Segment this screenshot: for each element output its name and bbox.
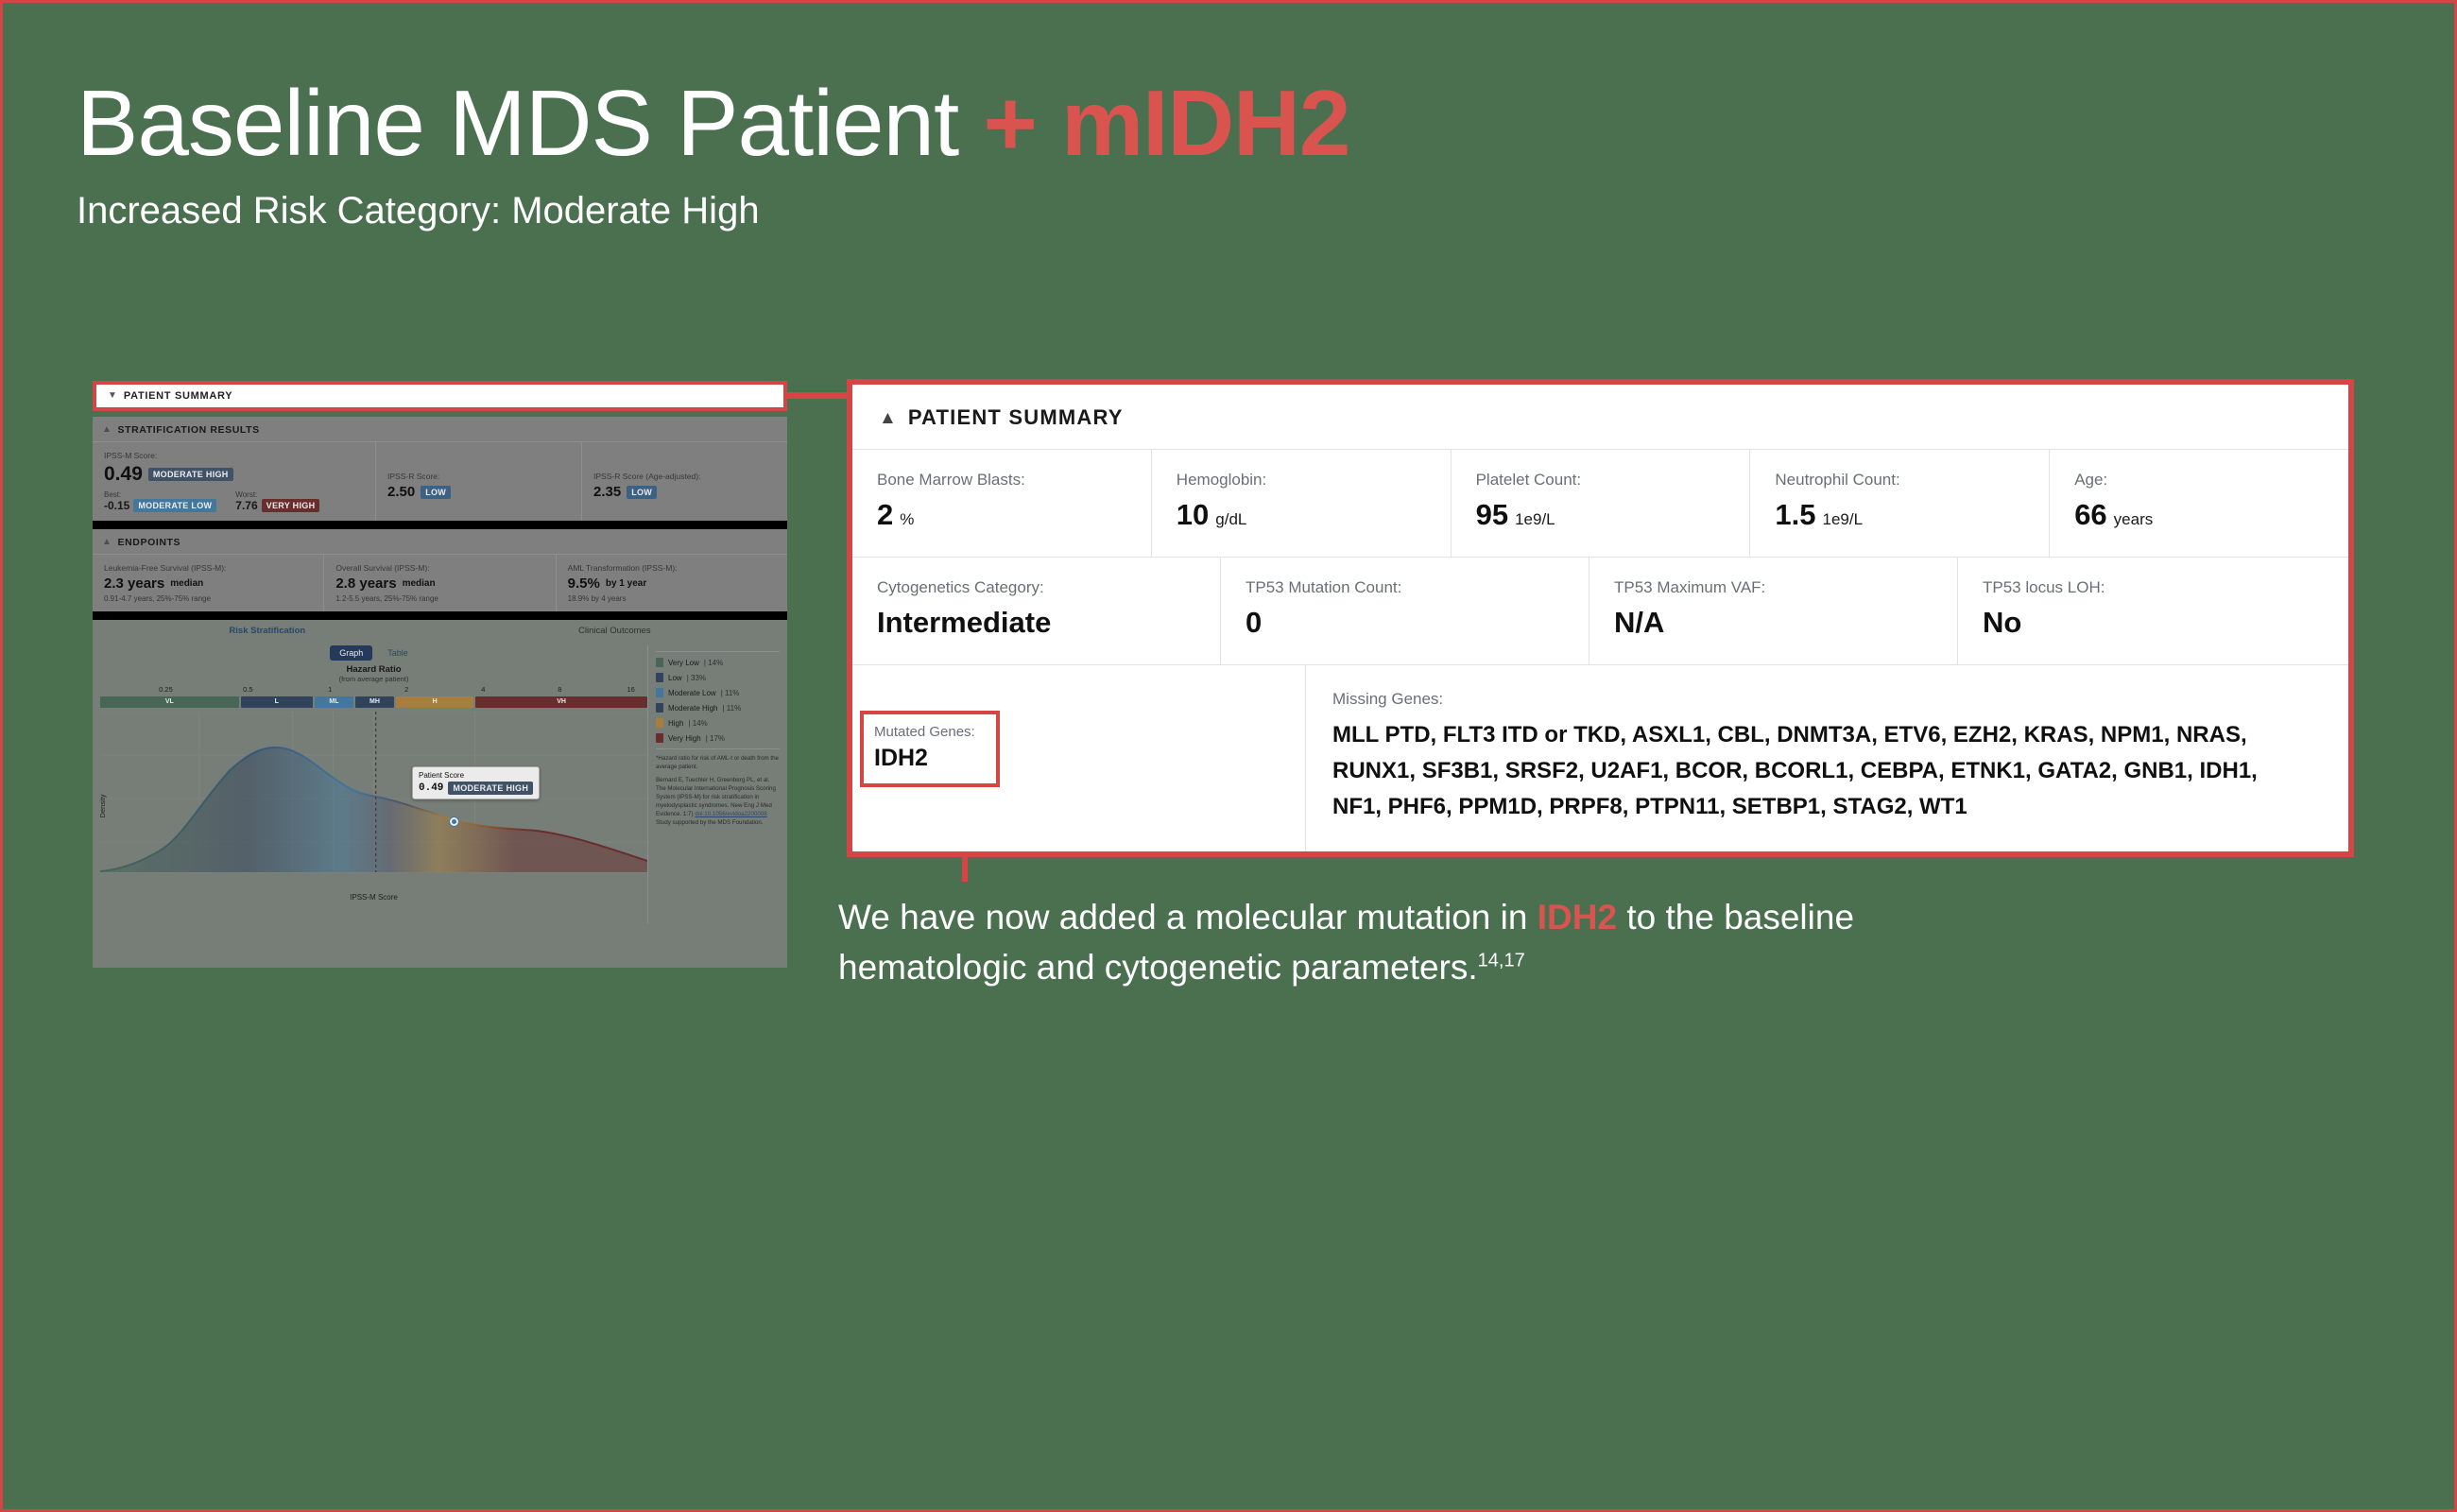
patient-summary-cell-key: TP53 Mutation Count: [1246, 578, 1564, 597]
chart-legend: Very Low| 14%Low| 33%Moderate Low| 11%Mo… [647, 645, 780, 923]
endpoints-row: Leukemia-Free Survival (IPSS-M): 2.3 yea… [93, 555, 787, 611]
patient-summary-cell: Age:66years [2050, 450, 2348, 557]
lfs-cell: Leukemia-Free Survival (IPSS-M): 2.3 yea… [93, 555, 324, 611]
patient-summary-cell-number: 66 [2074, 498, 2106, 532]
os-value: 2.8 years median [335, 576, 543, 592]
endpoints-label: ENDPOINTS [118, 537, 181, 548]
chart-top-tick: 4 [481, 685, 485, 694]
legend-percent: | 33% [687, 674, 706, 682]
risk-stratification-chart: Graph Table Hazard Ratio (from average p… [93, 640, 787, 923]
ipssr-score-cell: IPSS-R Score: 2.50 LOW [376, 442, 582, 521]
chart-top-tick: 0.5 [243, 685, 252, 694]
patient-summary-cell: Neutrophil Count:1.51e9/L [1750, 450, 2050, 557]
page-title-main: Baseline MDS Patient [77, 71, 958, 175]
patient-summary-row-3: Mutated Genes: IDH2 Missing Genes: MLL P… [852, 665, 2348, 851]
ipssm-best-badge: MODERATE LOW [133, 499, 216, 512]
ipssr-score-value: 2.50 LOW [387, 484, 570, 500]
mutated-genes-cell: Mutated Genes: IDH2 [852, 665, 1306, 851]
patient-score-tooltip-label: Patient Score [419, 771, 533, 780]
page-subtitle: Increased Risk Category: Moderate High [77, 190, 1349, 232]
aml-key: AML Transformation (IPSS-M): [568, 563, 776, 573]
legend-item: Moderate High| 11% [656, 703, 780, 713]
patient-summary-cell-unit: g/dL [1215, 510, 1246, 529]
patient-score-tooltip-row: 0.49 MODERATE HIGH [419, 782, 533, 795]
aml-range: 18.9% by 4 years [568, 594, 776, 603]
patient-summary-row-1: Bone Marrow Blasts:2%Hemoglobin:10g/dLPl… [852, 450, 2348, 558]
tab-risk-stratification[interactable]: Risk Stratification [229, 626, 305, 636]
patient-summary-cell-number: 2 [877, 498, 893, 532]
patient-summary-cell-key: Cytogenetics Category: [877, 578, 1195, 597]
legend-percent: | 17% [706, 734, 725, 743]
legend-label: Moderate High [668, 704, 717, 713]
lfs-number: 2.3 years [104, 576, 164, 592]
chart-top-axis-ticks: 0.250.5124816 [100, 685, 647, 696]
chart-top-axis-title: Hazard Ratio [100, 664, 647, 675]
chart-xlabel: IPSS-M Score [100, 893, 647, 902]
page-title-accent: + mIDH2 [984, 71, 1350, 175]
legend-label: Very Low [668, 659, 699, 667]
ipssm-worst: Worst: 7.76 VERY HIGH [235, 490, 319, 512]
ipssm-worst-value: 7.76 VERY HIGH [235, 499, 319, 512]
risk-band-vh: VH [475, 696, 647, 708]
legend-label: Low [668, 674, 682, 682]
chart-footnote: *Hazard ratio for risk of AML-t or death… [656, 755, 780, 772]
patient-summary-cell-value: 951e9/L [1476, 498, 1726, 532]
ipssr-age-adjusted-key: IPSS-R Score (Age-adjusted): [593, 472, 776, 481]
patient-summary-title: PATIENT SUMMARY [908, 405, 1124, 430]
chart-top-tick: 2 [404, 685, 408, 694]
ipssm-score-value: 0.49 MODERATE HIGH [104, 463, 364, 486]
patient-summary-card: ▲ PATIENT SUMMARY Bone Marrow Blasts:2%H… [847, 379, 2354, 857]
thumb-patient-summary-bar[interactable]: ▼ PATIENT SUMMARY [93, 381, 787, 411]
legend-item: Very High| 17% [656, 733, 780, 743]
os-cell: Overall Survival (IPSS-M): 2.8 years med… [324, 555, 556, 611]
chart-citation: Bernard E, Tuechler H, Greenberg PL, et … [656, 777, 780, 828]
patient-summary-cell-unit: 1e9/L [1515, 510, 1555, 529]
legend-swatch [656, 688, 663, 697]
slide-caption: We have now added a molecular mutation i… [838, 893, 2019, 992]
patient-summary-cell-number: 0 [1246, 606, 1262, 640]
ipssr-age-adjusted-number: 2.35 [593, 484, 621, 500]
legend-percent: | 11% [722, 704, 741, 713]
os-key: Overall Survival (IPSS-M): [335, 563, 543, 573]
mutated-genes-value: IDH2 [874, 745, 986, 772]
chart-top-tick: 8 [558, 685, 561, 694]
patient-summary-cell-number: 10 [1177, 498, 1209, 532]
patient-summary-cell-number: 1.5 [1775, 498, 1815, 532]
patient-summary-cell-key: Age: [2074, 471, 2324, 490]
patient-summary-row-2: Cytogenetics Category:IntermediateTP53 M… [852, 558, 2348, 665]
chevron-up-icon: ▲ [879, 409, 897, 427]
ipssm-best-worst-row: Best: -0.15 MODERATE LOW Worst: 7.76 VER… [104, 490, 364, 512]
ipssr-age-adjusted-value: 2.35 LOW [593, 484, 776, 500]
risk-band-ml: ML [315, 696, 353, 708]
chevron-down-icon: ▼ [108, 391, 117, 401]
patient-summary-cell-key: Platelet Count: [1476, 471, 1726, 490]
stratification-results-label: STRATIFICATION RESULTS [118, 424, 260, 436]
graph-table-toggle: Graph Table [100, 645, 647, 661]
density-curve-svg [100, 712, 647, 886]
patient-summary-cell-number: No [1983, 606, 2021, 640]
patient-summary-cell: Cytogenetics Category:Intermediate [852, 558, 1221, 664]
mutated-genes-highlight-box: Mutated Genes: IDH2 [860, 711, 1000, 787]
page-title: Baseline MDS Patient + mIDH2 [77, 77, 1349, 171]
patient-summary-cell-number: 95 [1476, 498, 1508, 532]
legend-swatch [656, 733, 663, 743]
missing-genes-value: MLL PTD, FLT3 ITD or TKD, ASXL1, CBL, DN… [1332, 717, 2287, 825]
ipssr-score-badge: LOW [421, 486, 451, 499]
patient-summary-cell-value: 66years [2074, 498, 2324, 532]
ipssm-worst-badge: VERY HIGH [262, 499, 320, 512]
title-area: Baseline MDS Patient + mIDH2 Increased R… [77, 77, 1349, 232]
toggle-graph-button[interactable]: Graph [330, 645, 372, 661]
patient-summary-cell: Hemoglobin:10g/dL [1152, 450, 1452, 557]
patient-summary-cell: TP53 locus LOH:No [1958, 558, 2348, 664]
legend-percent: | 14% [704, 659, 723, 667]
thumb-body: ▲ STRATIFICATION RESULTS IPSS-M Score: 0… [93, 417, 787, 968]
patient-summary-cell-unit: % [900, 510, 914, 529]
ipssr-score-number: 2.50 [387, 484, 415, 500]
ipssr-score-key: IPSS-R Score: [387, 472, 570, 481]
missing-genes-key: Missing Genes: [1332, 690, 2324, 709]
patient-summary-cell: Bone Marrow Blasts:2% [852, 450, 1152, 557]
missing-genes-cell: Missing Genes: MLL PTD, FLT3 ITD or TKD,… [1306, 665, 2348, 851]
legend-item: High| 14% [656, 718, 780, 728]
legend-percent: | 14% [688, 719, 707, 728]
os-unit: median [403, 578, 436, 589]
legend-swatch [656, 718, 663, 728]
risk-band-l: L [241, 696, 313, 708]
risk-band-vl: VL [100, 696, 239, 708]
citation-tail: Study supported by the MDS Foundation. [656, 819, 764, 826]
legend-label: High [668, 719, 683, 728]
patient-summary-cell-unit: 1e9/L [1823, 510, 1864, 529]
ipssm-score-key: IPSS-M Score: [104, 451, 364, 460]
risk-band-h: H [396, 696, 473, 708]
risk-band-row: VLLMLMHHVH [100, 696, 647, 708]
endpoints-header[interactable]: ▲ ENDPOINTS [93, 529, 787, 555]
ipssm-best-value: -0.15 MODERATE LOW [104, 499, 216, 512]
ipssm-best-number: -0.15 [104, 499, 129, 512]
patient-summary-cell-key: Bone Marrow Blasts: [877, 471, 1126, 490]
thumb-tabs: Risk Stratification Clinical Outcomes [93, 620, 787, 640]
aml-number: 9.5% [568, 576, 600, 592]
legend-item: Low| 33% [656, 673, 780, 682]
chart-plot-area: Graph Table Hazard Ratio (from average p… [100, 645, 647, 923]
patient-summary-cell-value: 2% [877, 498, 1126, 532]
stratification-row: IPSS-M Score: 0.49 MODERATE HIGH Best: -… [93, 442, 787, 521]
caption-superscript: 14,17 [1478, 950, 1525, 971]
mutated-genes-key: Mutated Genes: [874, 724, 986, 740]
endpoints-section: ▲ ENDPOINTS Leukemia-Free Survival (IPSS… [93, 529, 787, 611]
patient-summary-cell-key: Neutrophil Count: [1775, 471, 2024, 490]
chart-ylabel: Density [98, 794, 107, 817]
os-number: 2.8 years [335, 576, 396, 592]
divider-bar-2 [93, 611, 787, 620]
patient-summary-cell-key: TP53 locus LOH: [1983, 578, 2324, 597]
patient-summary-cell-value: N/A [1614, 606, 1933, 640]
patient-summary-cell-key: Hemoglobin: [1177, 471, 1426, 490]
chevron-up-icon: ▲ [102, 425, 112, 435]
patient-summary-cell-value: 1.51e9/L [1775, 498, 2024, 532]
chart-top-tick: 16 [627, 685, 634, 694]
citation-doi-link[interactable]: doi:10.1056/evidoa2200008 [695, 811, 766, 817]
lfs-key: Leukemia-Free Survival (IPSS-M): [104, 563, 312, 573]
patient-summary-cell: TP53 Mutation Count:0 [1221, 558, 1589, 664]
risk-band-mh: MH [355, 696, 394, 708]
legend-divider-top [656, 651, 780, 652]
legend-swatch [656, 703, 663, 713]
patient-summary-cell-number: Intermediate [877, 606, 1051, 640]
patient-summary-cell-number: N/A [1614, 606, 1664, 640]
ipssm-score-badge: MODERATE HIGH [148, 468, 233, 481]
ipssm-best-key: Best: [104, 490, 216, 499]
ipssm-score-cell: IPSS-M Score: 0.49 MODERATE HIGH Best: -… [93, 442, 376, 521]
patient-score-tooltip: Patient Score 0.49 MODERATE HIGH [412, 766, 540, 799]
legend-percent: | 11% [721, 689, 740, 697]
ipssm-worst-key: Worst: [235, 490, 319, 499]
thumb-patient-summary-label: PATIENT SUMMARY [124, 390, 232, 402]
divider-bar [93, 521, 787, 529]
aml-cell: AML Transformation (IPSS-M): 9.5% by 1 y… [557, 555, 787, 611]
chart-top-tick: 1 [328, 685, 332, 694]
patient-summary-cell-value: 10g/dL [1177, 498, 1426, 532]
caption-part-1: We have now added a molecular mutation i… [838, 898, 1538, 936]
legend-swatch [656, 658, 663, 667]
density-plot: Density [100, 712, 647, 901]
lfs-range: 0.91-4.7 years, 25%-75% range [104, 594, 312, 603]
legend-item: Very Low| 14% [656, 658, 780, 667]
chevron-up-icon: ▲ [102, 538, 112, 547]
patient-summary-cell: TP53 Maximum VAF:N/A [1589, 558, 1958, 664]
legend-swatch [656, 673, 663, 682]
patient-summary-cell: Platelet Count:951e9/L [1452, 450, 1751, 557]
ipssr-age-adjusted-cell: IPSS-R Score (Age-adjusted): 2.35 LOW [582, 442, 787, 521]
patient-summary-cell-key: TP53 Maximum VAF: [1614, 578, 1933, 597]
legend-label: Moderate Low [668, 689, 716, 697]
ipssr-age-adjusted-badge: LOW [627, 486, 657, 499]
ipssm-score-number: 0.49 [104, 463, 143, 486]
os-range: 1.2-5.5 years, 25%-75% range [335, 594, 543, 603]
patient-score-tooltip-badge: MODERATE HIGH [448, 782, 533, 795]
caption-accent: IDH2 [1538, 898, 1617, 936]
stratification-results-header[interactable]: ▲ STRATIFICATION RESULTS [93, 417, 787, 442]
lfs-value: 2.3 years median [104, 576, 312, 592]
toggle-table-button[interactable]: Table [378, 645, 418, 661]
chart-top-tick: 0.25 [159, 685, 173, 694]
legend-divider-bottom [656, 748, 780, 749]
patient-summary-cell-value: Intermediate [877, 606, 1195, 640]
patient-summary-cell-unit: years [2114, 510, 2154, 529]
patient-summary-cell-value: 0 [1246, 606, 1564, 640]
lfs-unit: median [170, 578, 203, 589]
patient-score-tooltip-value: 0.49 [419, 782, 443, 794]
tab-clinical-outcomes[interactable]: Clinical Outcomes [578, 626, 651, 636]
stratification-results-section: ▲ STRATIFICATION RESULTS IPSS-M Score: 0… [93, 417, 787, 521]
aml-value: 9.5% by 1 year [568, 576, 776, 592]
patient-score-marker[interactable] [450, 817, 458, 826]
app-thumbnail: ▼ PATIENT SUMMARY ▲ STRATIFICATION RESUL… [93, 381, 787, 971]
chart-top-axis-subtitle: (from average patient) [100, 675, 647, 683]
patient-summary-header[interactable]: ▲ PATIENT SUMMARY [852, 385, 2348, 450]
ipssm-worst-number: 7.76 [235, 499, 257, 512]
aml-unit: by 1 year [606, 578, 646, 589]
patient-summary-cell-value: No [1983, 606, 2324, 640]
legend-item: Moderate Low| 11% [656, 688, 780, 697]
ipssm-best: Best: -0.15 MODERATE LOW [104, 490, 216, 512]
legend-items: Very Low| 14%Low| 33%Moderate Low| 11%Mo… [656, 658, 780, 743]
legend-label: Very High [668, 734, 701, 743]
